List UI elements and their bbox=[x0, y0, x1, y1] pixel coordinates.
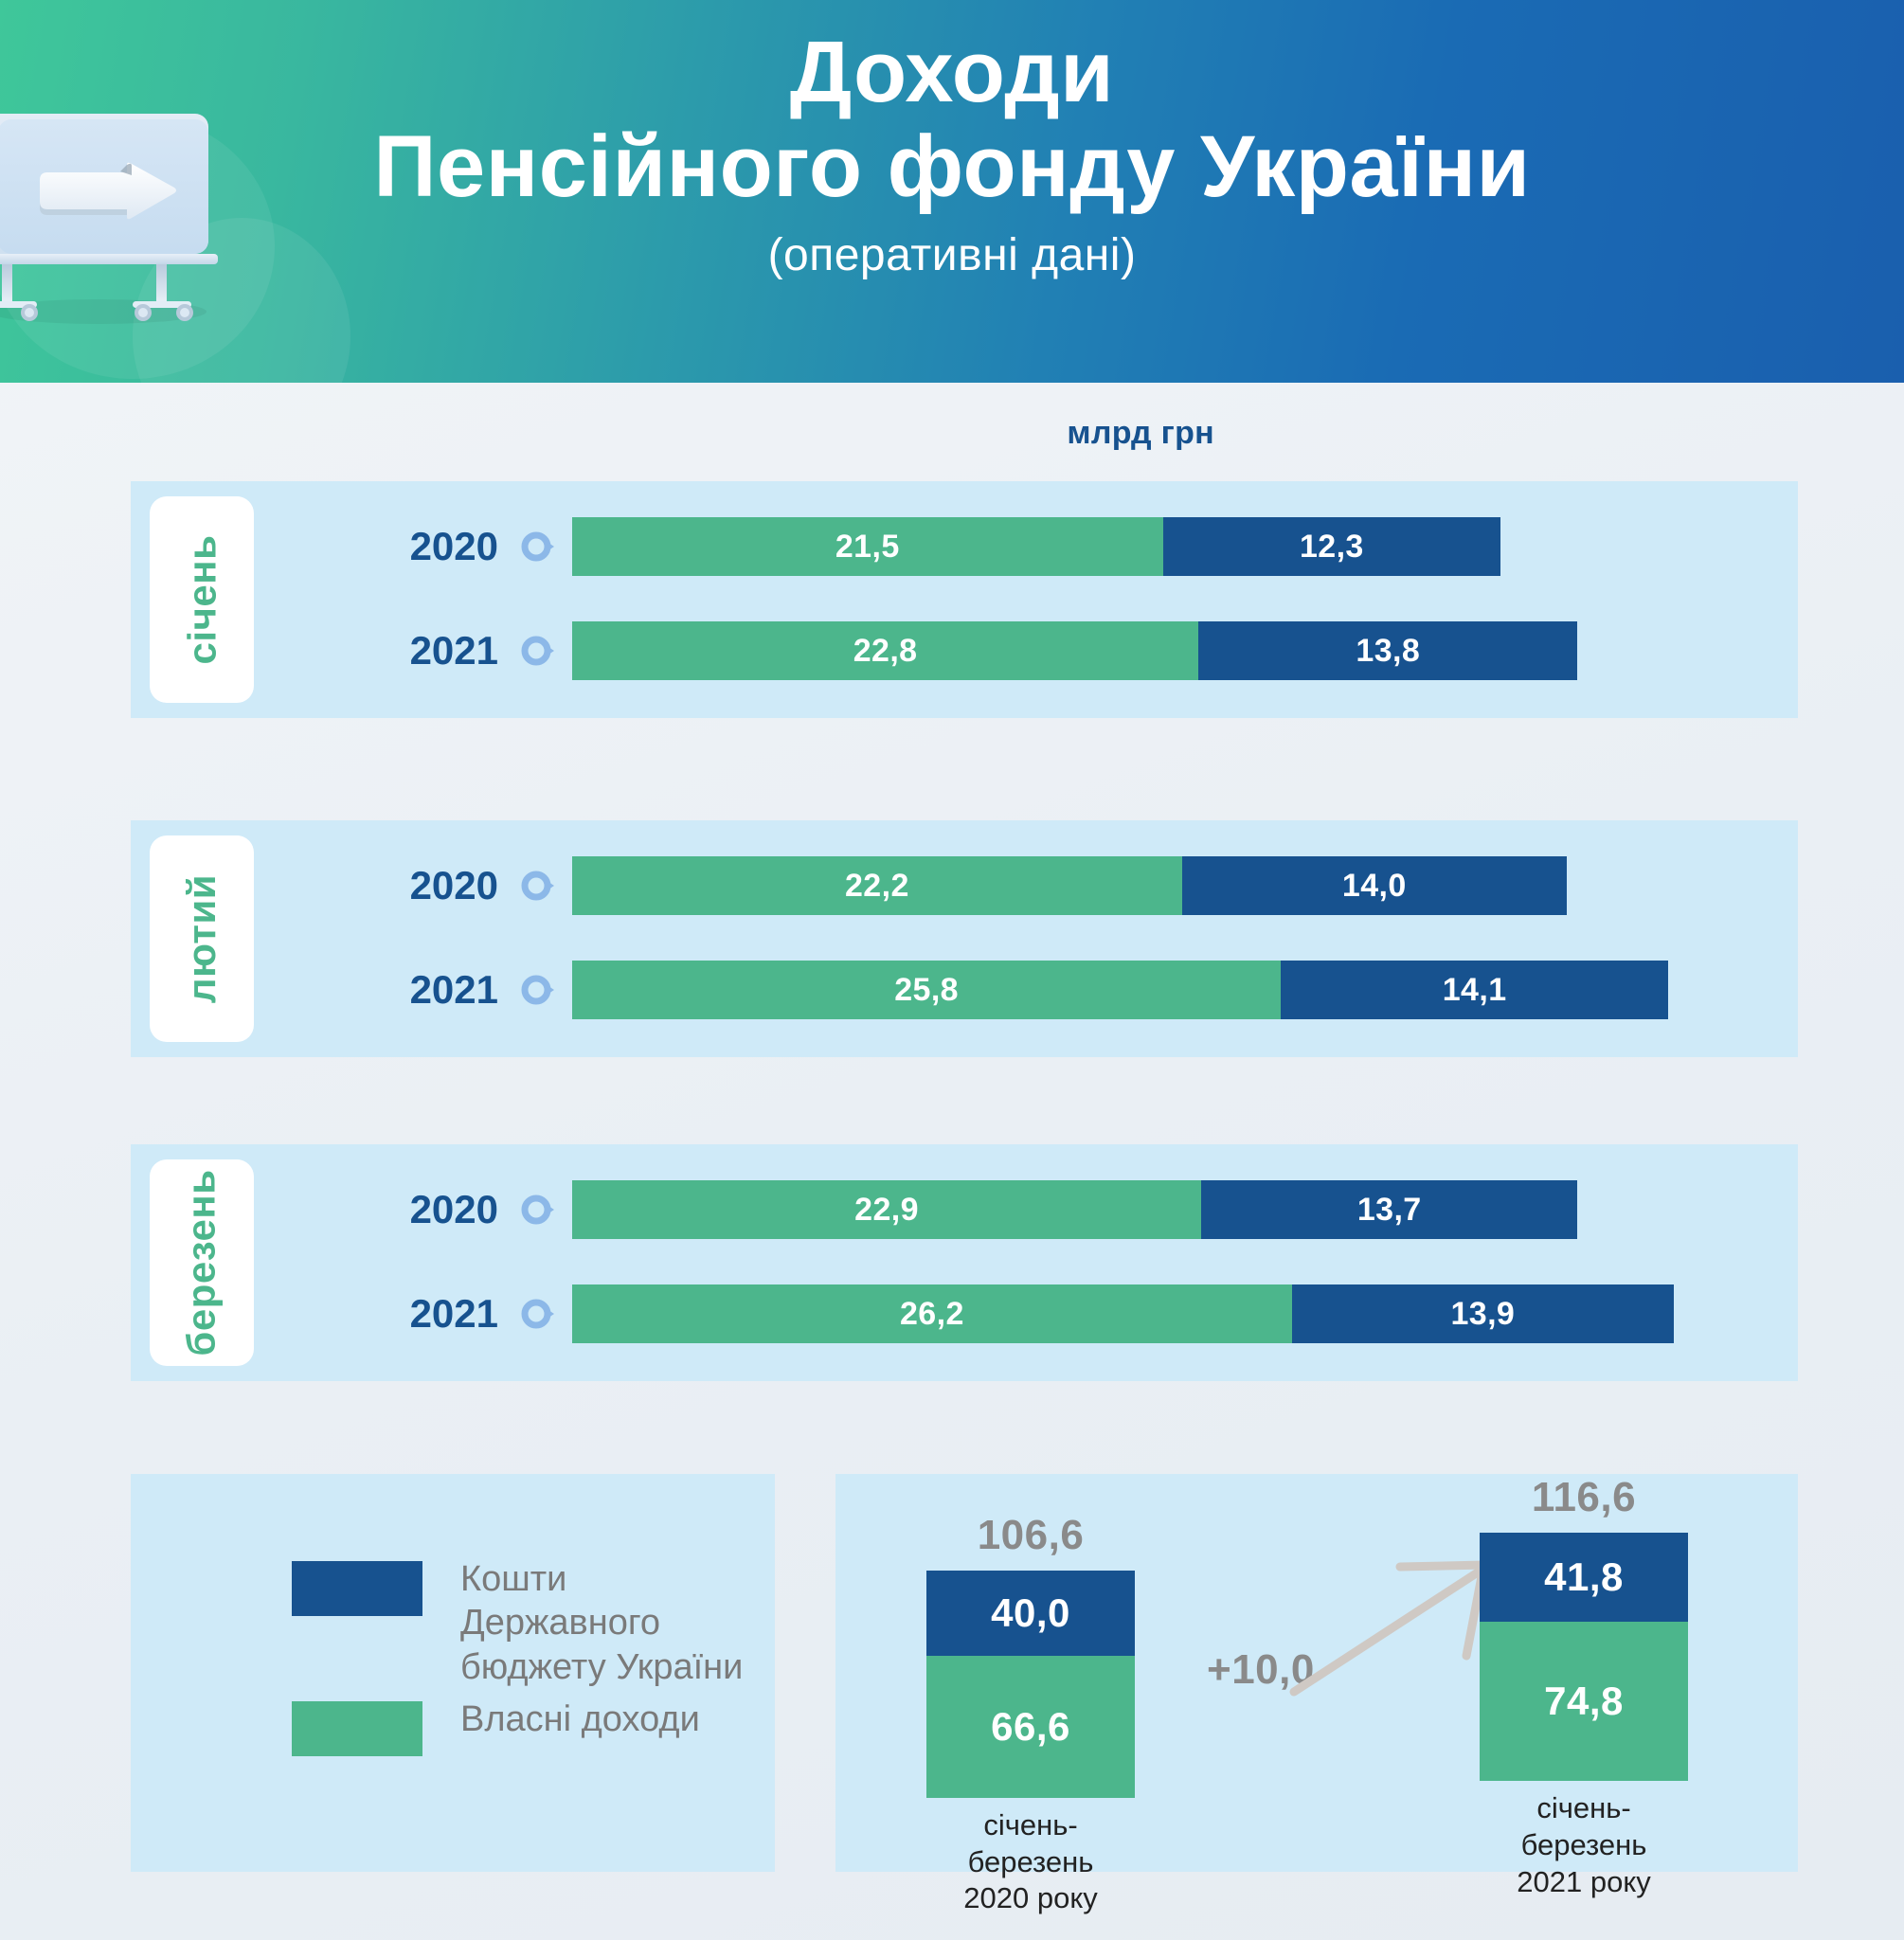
page-title-line-1: Доходи bbox=[0, 27, 1904, 118]
bar-segment-own-revenue: 26,2 bbox=[572, 1284, 1292, 1343]
bar-segment-own-revenue: 25,8 bbox=[572, 961, 1281, 1019]
bar-segment-own-revenue: 22,8 bbox=[572, 621, 1198, 680]
header-title-group: Доходи Пенсійного фонду України (операти… bbox=[0, 27, 1904, 281]
stacked-bar: 21,512,3 bbox=[572, 517, 1500, 576]
board-wheel-icon bbox=[135, 304, 152, 321]
summary-bar-2020: 40,0 66,6 bbox=[926, 1571, 1135, 1798]
year-label: 2020 bbox=[385, 1180, 498, 1239]
summary-bar-2021: 41,8 74,8 bbox=[1480, 1533, 1688, 1781]
bar-segment-state-budget: 14,1 bbox=[1281, 961, 1668, 1019]
summary-panel: 106,6 40,0 66,6 січень-березень 2020 рок… bbox=[835, 1474, 1798, 1872]
year-label: 2020 bbox=[385, 856, 498, 915]
summary-segment-own-2020: 66,6 bbox=[926, 1656, 1135, 1798]
bullet-marker-icon bbox=[521, 1297, 555, 1331]
stacked-bar: 22,214,0 bbox=[572, 856, 1567, 915]
legend-item-own-revenue: Власні доходи bbox=[292, 1701, 700, 1756]
month-label-card: березень bbox=[150, 1159, 254, 1366]
bullet-marker-icon bbox=[521, 1193, 555, 1227]
summary-segment-state-2021: 41,8 bbox=[1480, 1533, 1688, 1622]
summary-total-2020: 106,6 bbox=[926, 1512, 1135, 1559]
legend-panel: Кошти Державного бюджету України Власні … bbox=[131, 1474, 775, 1872]
bar-segment-state-budget: 13,8 bbox=[1198, 621, 1577, 680]
page-header: Доходи Пенсійного фонду України (операти… bbox=[0, 0, 1904, 383]
month-label-card: лютий bbox=[150, 835, 254, 1042]
month-block-2: лютий202022,214,0202125,814,1 bbox=[131, 820, 1798, 1057]
page-title-line-2: Пенсійного фонду України bbox=[0, 118, 1904, 216]
bar-segment-state-budget: 12,3 bbox=[1163, 517, 1501, 576]
stacked-bar: 25,814,1 bbox=[572, 961, 1668, 1019]
unit-label: млрд грн bbox=[1067, 415, 1214, 452]
month-label-card: січень bbox=[150, 496, 254, 703]
summary-total-2021: 116,6 bbox=[1480, 1474, 1688, 1521]
board-wheel-icon bbox=[21, 304, 38, 321]
legend-label-state-budget: Кошти Державного бюджету України bbox=[460, 1557, 775, 1689]
year-label: 2020 bbox=[385, 517, 498, 576]
stacked-bar: 22,813,8 bbox=[572, 621, 1577, 680]
year-label: 2021 bbox=[385, 621, 498, 680]
summary-segment-own-2021: 74,8 bbox=[1480, 1622, 1688, 1781]
board-wheel-icon bbox=[176, 304, 193, 321]
month-label: січень bbox=[179, 535, 225, 665]
bar-segment-own-revenue: 22,2 bbox=[572, 856, 1182, 915]
year-label: 2021 bbox=[385, 961, 498, 1019]
legend-label-own-revenue: Власні доходи bbox=[460, 1697, 700, 1741]
legend-swatch-state-budget-icon bbox=[292, 1561, 422, 1616]
bullet-marker-icon bbox=[521, 530, 555, 564]
summary-column-2020: 106,6 40,0 66,6 січень-березень 2020 рок… bbox=[926, 1512, 1135, 1917]
month-label: березень bbox=[179, 1169, 225, 1356]
bullet-marker-icon bbox=[521, 869, 555, 903]
summary-caption-2020: січень-березень 2020 року bbox=[926, 1807, 1135, 1917]
bullet-marker-icon bbox=[521, 973, 555, 1007]
month-label: лютий bbox=[179, 874, 225, 1003]
bar-segment-state-budget: 13,7 bbox=[1201, 1180, 1577, 1239]
bullet-marker-icon bbox=[521, 634, 555, 668]
summary-column-2021: 116,6 41,8 74,8 січень-березень 2021 рок… bbox=[1480, 1474, 1688, 1901]
stacked-bar: 26,213,9 bbox=[572, 1284, 1674, 1343]
legend-swatch-own-revenue-icon bbox=[292, 1701, 422, 1756]
summary-segment-state-2020: 40,0 bbox=[926, 1571, 1135, 1656]
month-block-1: січень202021,512,3202122,813,8 bbox=[131, 481, 1798, 718]
stacked-bar: 22,913,7 bbox=[572, 1180, 1577, 1239]
summary-caption-2021: січень-березень 2021 року bbox=[1480, 1790, 1688, 1900]
bar-segment-own-revenue: 22,9 bbox=[572, 1180, 1201, 1239]
bar-segment-state-budget: 13,9 bbox=[1292, 1284, 1674, 1343]
growth-arrow-icon bbox=[1288, 1555, 1506, 1697]
bar-segment-state-budget: 14,0 bbox=[1182, 856, 1567, 915]
bar-segment-own-revenue: 21,5 bbox=[572, 517, 1163, 576]
month-block-3: березень202022,913,7202126,213,9 bbox=[131, 1144, 1798, 1381]
legend-item-state-budget: Кошти Державного бюджету України bbox=[292, 1561, 775, 1689]
year-label: 2021 bbox=[385, 1284, 498, 1343]
page-subtitle: (оперативні дані) bbox=[0, 229, 1904, 281]
